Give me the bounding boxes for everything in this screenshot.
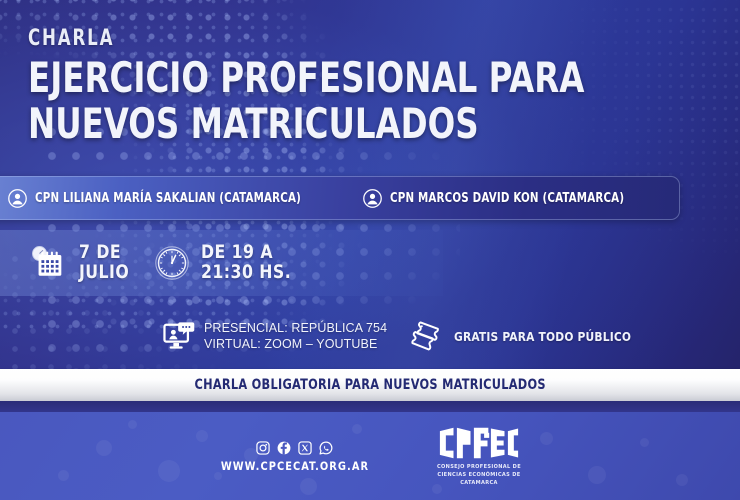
social-links <box>256 441 333 455</box>
modality-line-1: PRESENCIAL: REPÚBLICA 754 <box>204 320 387 336</box>
monitor-presentation-icon <box>163 321 195 351</box>
venue-row: PRESENCIAL: REPÚBLICA 754 VIRTUAL: ZOOM … <box>163 312 641 360</box>
time-line-1: DE 19 A <box>201 243 291 263</box>
logo-sub-line-3: CATAMARCA <box>437 480 521 488</box>
modality-text: PRESENCIAL: REPÚBLICA 754 VIRTUAL: ZOOM … <box>204 320 387 352</box>
title-line-2: NUEVOS MATRICULADOS <box>28 103 596 144</box>
x-twitter-icon[interactable] <box>298 441 312 455</box>
modality-item: PRESENCIAL: REPÚBLICA 754 VIRTUAL: ZOOM … <box>163 320 387 352</box>
logo-sub-line-2: CIENCIAS ECONÓMICAS DE <box>437 472 521 480</box>
website-url[interactable]: WWW.CPCECAT.ORG.AR <box>221 459 369 473</box>
tickets-icon <box>409 320 445 352</box>
facebook-icon[interactable] <box>277 441 291 455</box>
speakers-bar: CPN LILIANA MARÍA SAKALIAN (CATAMARCA) C… <box>0 176 680 220</box>
person-avatar-icon <box>363 189 382 208</box>
date-line-1: 7 DE <box>79 243 129 263</box>
logo-sub-line-1: CONSEJO PROFESIONAL DE <box>437 464 521 472</box>
time-item: DE 19 A 21:30 HS. <box>154 243 299 283</box>
clock-icon <box>154 245 190 281</box>
headline-block: CHARLA EJERCICIO PROFESIONAL PARA NUEVOS… <box>28 26 688 144</box>
mandatory-notice-strip: CHARLA OBLIGATORIA PARA NUEVOS MATRICULA… <box>0 369 740 401</box>
whatsapp-icon[interactable] <box>319 441 333 455</box>
schedule-panel: 7 DE JULIO <box>0 230 443 296</box>
notice-text: CHARLA OBLIGATORIA PARA NUEVOS MATRICULA… <box>194 377 545 393</box>
modality-line-2: VIRTUAL: ZOOM – YOUTUBE <box>204 336 387 352</box>
footer: WWW.CPCECAT.ORG.AR CONSEJO PROFESIONAL D… <box>0 412 740 500</box>
date-text: 7 DE JULIO <box>79 243 129 283</box>
social-block: WWW.CPCECAT.ORG.AR <box>217 441 373 473</box>
price-item: GRATIS PARA TODO PÚBLICO <box>409 320 641 352</box>
footer-content: WWW.CPCECAT.ORG.AR CONSEJO PROFESIONAL D… <box>0 412 740 500</box>
speaker-name: CPN LILIANA MARÍA SAKALIAN (CATAMARCA) <box>35 191 301 206</box>
notice-underbar <box>0 401 740 412</box>
cpce-logo: CONSEJO PROFESIONAL DE CIENCIAS ECONÓMIC… <box>435 426 523 488</box>
calendar-icon <box>30 245 68 281</box>
instagram-icon[interactable] <box>256 441 270 455</box>
speaker-item: CPN MARCOS DAVID KON (CATAMARCA) <box>363 189 656 208</box>
event-poster: CHARLA EJERCICIO PROFESIONAL PARA NUEVOS… <box>0 0 740 500</box>
time-text: DE 19 A 21:30 HS. <box>201 243 291 283</box>
speaker-item: CPN LILIANA MARÍA SAKALIAN (CATAMARCA) <box>8 189 337 208</box>
price-label: GRATIS PARA TODO PÚBLICO <box>454 329 631 344</box>
page-title: EJERCICIO PROFESIONAL PARA NUEVOS MATRIC… <box>28 57 596 144</box>
cpce-wordmark-icon <box>435 426 523 460</box>
title-line-1: EJERCICIO PROFESIONAL PARA <box>28 53 584 102</box>
kicker-label: CHARLA <box>28 26 582 51</box>
date-line-2: JULIO <box>79 263 129 283</box>
time-line-2: 21:30 HS. <box>201 263 291 283</box>
speaker-name: CPN MARCOS DAVID KON (CATAMARCA) <box>390 191 624 206</box>
cpce-logo-subtitle: CONSEJO PROFESIONAL DE CIENCIAS ECONÓMIC… <box>437 464 521 488</box>
person-avatar-icon <box>8 189 27 208</box>
date-item: 7 DE JULIO <box>30 243 134 283</box>
